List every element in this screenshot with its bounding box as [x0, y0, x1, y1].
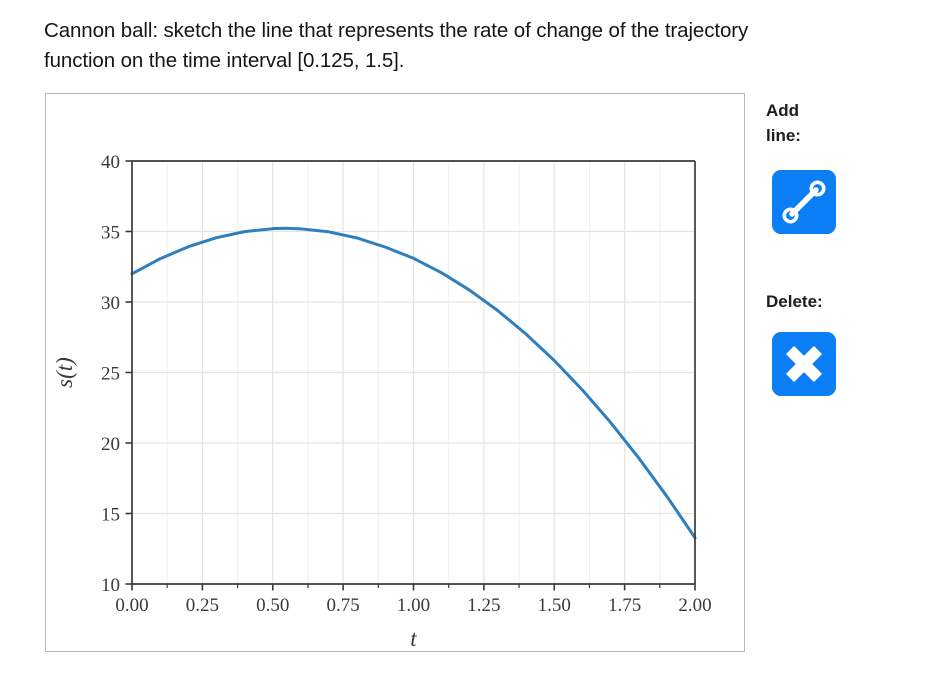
svg-text:0.25: 0.25 [186, 595, 219, 616]
tool-panel: Add line: Delete: [766, 98, 916, 396]
add-line-button[interactable] [772, 170, 836, 234]
y-axis-label: s(t) [52, 357, 77, 388]
x-axis-label: t [410, 626, 417, 651]
plot-card: 0.000.250.500.751.001.251.501.752.001015… [45, 93, 745, 652]
svg-text:0.50: 0.50 [256, 595, 289, 616]
svg-text:40: 40 [101, 152, 120, 173]
svg-text:1.75: 1.75 [608, 595, 641, 616]
svg-text:10: 10 [101, 575, 120, 596]
svg-text:30: 30 [101, 293, 120, 314]
svg-text:1.50: 1.50 [538, 595, 571, 616]
svg-text:35: 35 [101, 223, 120, 244]
svg-text:0.75: 0.75 [327, 595, 360, 616]
svg-text:0.00: 0.00 [115, 595, 148, 616]
delete-button[interactable] [772, 332, 836, 396]
svg-text:15: 15 [101, 505, 120, 526]
line-segment-icon [772, 170, 836, 234]
svg-text:1.25: 1.25 [467, 595, 500, 616]
add-line-label: Add line: [766, 98, 838, 148]
svg-text:25: 25 [101, 364, 120, 385]
trajectory-chart[interactable]: 0.000.250.500.751.001.251.501.752.001015… [46, 94, 746, 653]
delete-label: Delete: [766, 289, 838, 314]
svg-text:1.00: 1.00 [397, 595, 430, 616]
page-title: Cannon ball: sketch the line that repres… [44, 16, 814, 76]
svg-text:2.00: 2.00 [678, 595, 711, 616]
svg-text:20: 20 [101, 434, 120, 455]
close-x-icon [772, 332, 836, 396]
